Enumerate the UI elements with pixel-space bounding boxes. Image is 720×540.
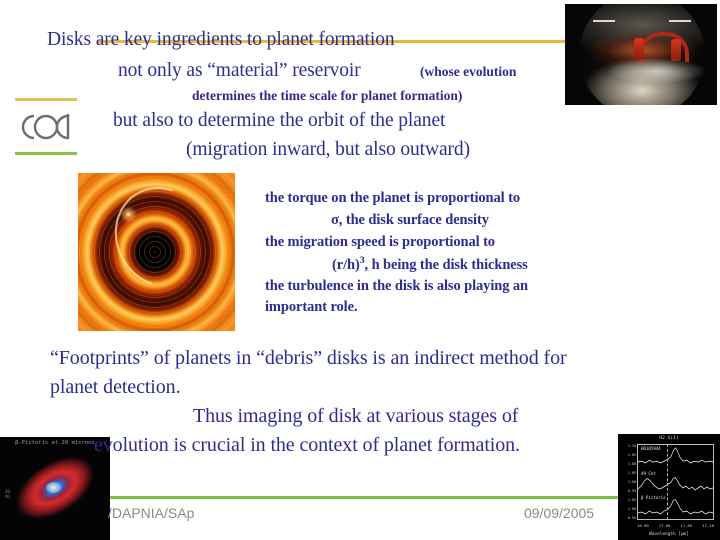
spectra-plot-frame: HD105944 49 Cet β Pictoris — [637, 444, 714, 520]
subtitle-line-2-paren: determines the time scale for planet for… — [192, 88, 462, 103]
y-tick: 1.10 — [628, 444, 636, 448]
infrared-spectra-plot: H2 S(1) 1.10 1.05 1.00 1.05 1.00 0.95 1.… — [618, 434, 720, 540]
y-tick: 1.00 — [628, 507, 636, 511]
scale-bar-label: 20AU — [5, 489, 10, 499]
spectra-title: H2 S(1) — [618, 436, 720, 441]
note-line-2: σ, the disk surface density — [331, 212, 489, 228]
page-title: Disks are key ingredients to planet form… — [47, 29, 395, 51]
spectra-line-marker — [667, 444, 668, 520]
spectra-y-axis: 1.10 1.05 1.00 1.05 1.00 0.95 1.05 1.00 … — [621, 444, 636, 520]
fisheye-dome — [579, 4, 705, 105]
red-equipment-left — [634, 38, 644, 60]
spectrum-trace — [638, 494, 713, 519]
embedded-planet-marker — [125, 211, 132, 218]
y-tick: 1.05 — [628, 453, 636, 457]
spectrum-trace — [638, 470, 713, 495]
spectra-x-axis-label: Wavelength [µm] — [618, 532, 720, 537]
subtitle-line-3: but also to determine the orbit of the p… — [113, 110, 445, 132]
x-tick: 17.05 — [681, 523, 693, 528]
spectrum-trace — [638, 445, 713, 470]
spectra-x-axis: 16.90 17.00 17.05 17.10 — [637, 523, 714, 528]
bottom-green-rule — [110, 496, 618, 499]
y-tick: 0.95 — [628, 516, 636, 520]
x-tick: 16.90 — [637, 523, 649, 528]
logo-green-rule — [15, 152, 77, 155]
protoplanetary-disk-simulation — [78, 173, 235, 331]
ceiling-lamp — [669, 20, 691, 22]
y-tick: 0.95 — [628, 489, 636, 493]
x-tick: 17.00 — [659, 523, 671, 528]
note-line-5: the turbulence in the disk is also playi… — [265, 278, 528, 294]
ceiling-lamp — [593, 20, 615, 22]
y-tick: 1.00 — [628, 480, 636, 484]
x-tick: 17.10 — [702, 523, 714, 528]
note-line-4: (r/h)3, h being the disk thickness — [332, 255, 528, 273]
spectrum-panel: HD105944 — [638, 445, 713, 470]
rh-ratio: (r/h) — [332, 257, 360, 273]
floor-reflection — [607, 58, 707, 84]
conclusion-line-2: planet detection. — [50, 376, 180, 398]
footer-date: 09/09/2005 — [524, 505, 594, 521]
subtitle-line-1: not only as “material” reservoir — [118, 60, 361, 82]
y-tick: 1.00 — [628, 462, 636, 466]
slide-canvas: Disks are key ingredients to planet form… — [0, 0, 720, 540]
fisheye-lab-photo — [565, 4, 717, 105]
sigma-symbol: σ — [331, 212, 339, 228]
logo-gold-rule — [15, 98, 77, 101]
spectrum-panel: β Pictoris — [638, 494, 713, 519]
note-line-1: the torque on the planet is proportional… — [265, 190, 520, 206]
stellar-core — [46, 482, 61, 493]
note-line-6: important role. — [265, 299, 357, 315]
conclusion-line-1: “Footprints” of planets in “debris” disk… — [50, 347, 567, 369]
subtitle-line-1-paren: (whose evolution — [420, 64, 516, 79]
conclusion-line-4: evolution is crucial in the context of p… — [94, 434, 520, 456]
footer-organization: /DAPNIA/SAp — [108, 505, 194, 521]
spectrum-panel: 49 Cet — [638, 470, 713, 495]
note-line-2-rest: , the disk surface density — [339, 212, 489, 228]
subtitle-line-4: (migration inward, but also outward) — [186, 139, 470, 161]
note-line-4-rest: , h being the disk thickness — [365, 257, 528, 273]
conclusion-line-3: Thus imaging of disk at various stages o… — [193, 405, 518, 427]
cea-logo — [10, 108, 82, 146]
note-line-3: the migration speed is proportional to — [265, 234, 495, 250]
y-tick: 1.05 — [628, 498, 636, 502]
y-tick: 1.05 — [628, 471, 636, 475]
